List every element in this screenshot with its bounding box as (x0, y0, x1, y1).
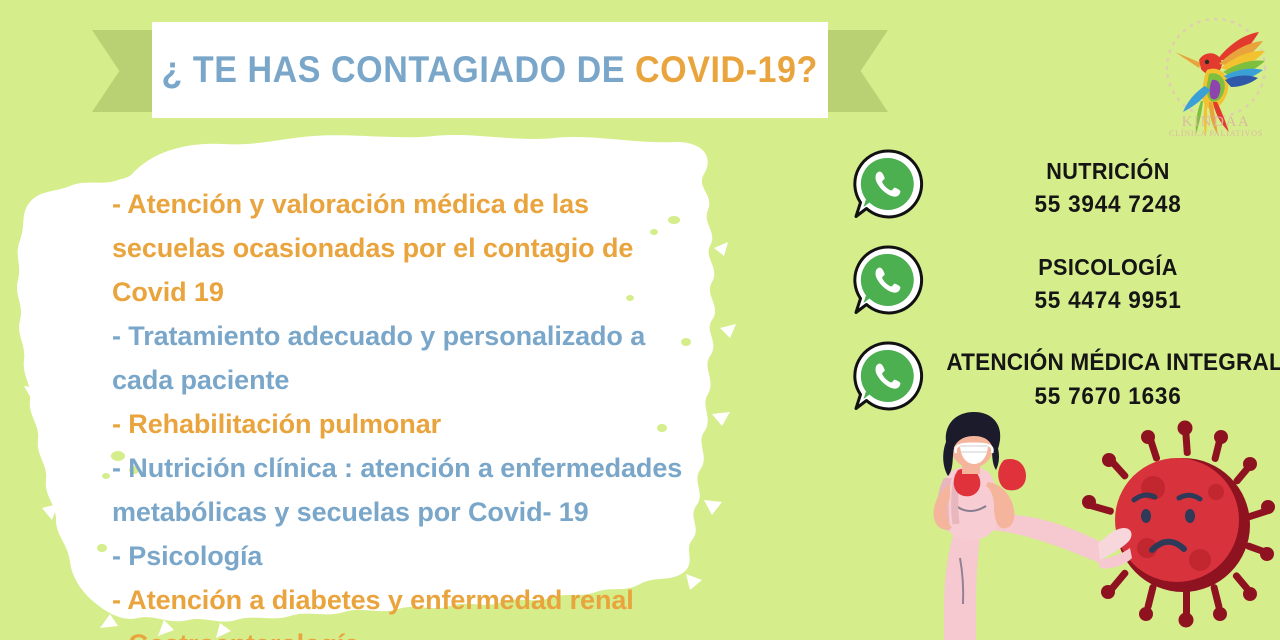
list-item: secuelas ocasionadas por el contagio de (112, 226, 772, 270)
list-item: cada paciente (112, 358, 772, 402)
services-list: - Atención y valoración médica de las se… (112, 182, 772, 640)
contact-text-psicologia: PSICOLOGÍA 55 4474 9951 (936, 254, 1280, 315)
contact-label: NUTRICIÓN (946, 158, 1269, 185)
contact-phone[interactable]: 55 4474 9951 (946, 287, 1269, 315)
contact-label: ATENCIÓN MÉDICA INTEGRAL (946, 349, 1269, 377)
list-item: - Tratamiento adecuado y personalizado a (112, 314, 772, 358)
contact-list: NUTRICIÓN 55 3944 7248 PSICOLOGÍA 55 447… (846, 140, 1280, 428)
list-item: - Gastroenterología (112, 622, 772, 640)
logo-name: KINDAA (1182, 114, 1251, 130)
page-title-part2: COVID-19? (635, 49, 818, 90)
banner: ¿ TE HAS CONTAGIADO DE COVID-19? (0, 0, 1280, 140)
contact-text-atencion-medica-integral: ATENCIÓN MÉDICA INTEGRAL 55 7670 1636 (936, 349, 1280, 411)
woman-with-mask-icon (934, 412, 1132, 640)
list-item: - Atención y valoración médica de las (112, 182, 772, 226)
poster-canvas: ¿ TE HAS CONTAGIADO DE COVID-19? (0, 0, 1280, 640)
banner-panel: ¿ TE HAS CONTAGIADO DE COVID-19? (152, 22, 828, 118)
list-item: - Atención a diabetes y enfermedad renal (112, 578, 772, 622)
list-item: - Nutrición clínica : atención a enferme… (112, 446, 772, 490)
brand-logo: KINDAA CLÍNICA PALIATIVOS (1155, 8, 1277, 140)
whatsapp-icon[interactable] (850, 242, 926, 318)
list-item: - Psicología (112, 534, 772, 578)
list-item: - Rehabilitación pulmonar (112, 402, 772, 446)
contact-row-psicologia[interactable]: PSICOLOGÍA 55 4474 9951 (846, 236, 1280, 332)
whatsapp-icon[interactable] (850, 338, 926, 414)
contact-phone[interactable]: 55 3944 7248 (946, 191, 1269, 219)
contact-label: PSICOLOGÍA (946, 254, 1269, 281)
list-item: metabólicas y secuelas por Covid- 19 (112, 490, 772, 534)
logo-tagline: CLÍNICA PALIATIVOS (1169, 128, 1263, 138)
woman-kicking-virus-illustration (900, 408, 1280, 640)
contact-text-nutricion: NUTRICIÓN 55 3944 7248 (936, 158, 1280, 219)
list-item: Covid 19 (112, 270, 772, 314)
contact-phone[interactable]: 55 7670 1636 (946, 383, 1269, 411)
page-title-part1: ¿ TE HAS CONTAGIADO DE (162, 49, 636, 90)
contact-row-nutricion[interactable]: NUTRICIÓN 55 3944 7248 (846, 140, 1280, 236)
sad-coronavirus-icon (1082, 421, 1275, 628)
page-title: ¿ TE HAS CONTAGIADO DE COVID-19? (162, 49, 818, 91)
whatsapp-icon[interactable] (850, 146, 926, 222)
